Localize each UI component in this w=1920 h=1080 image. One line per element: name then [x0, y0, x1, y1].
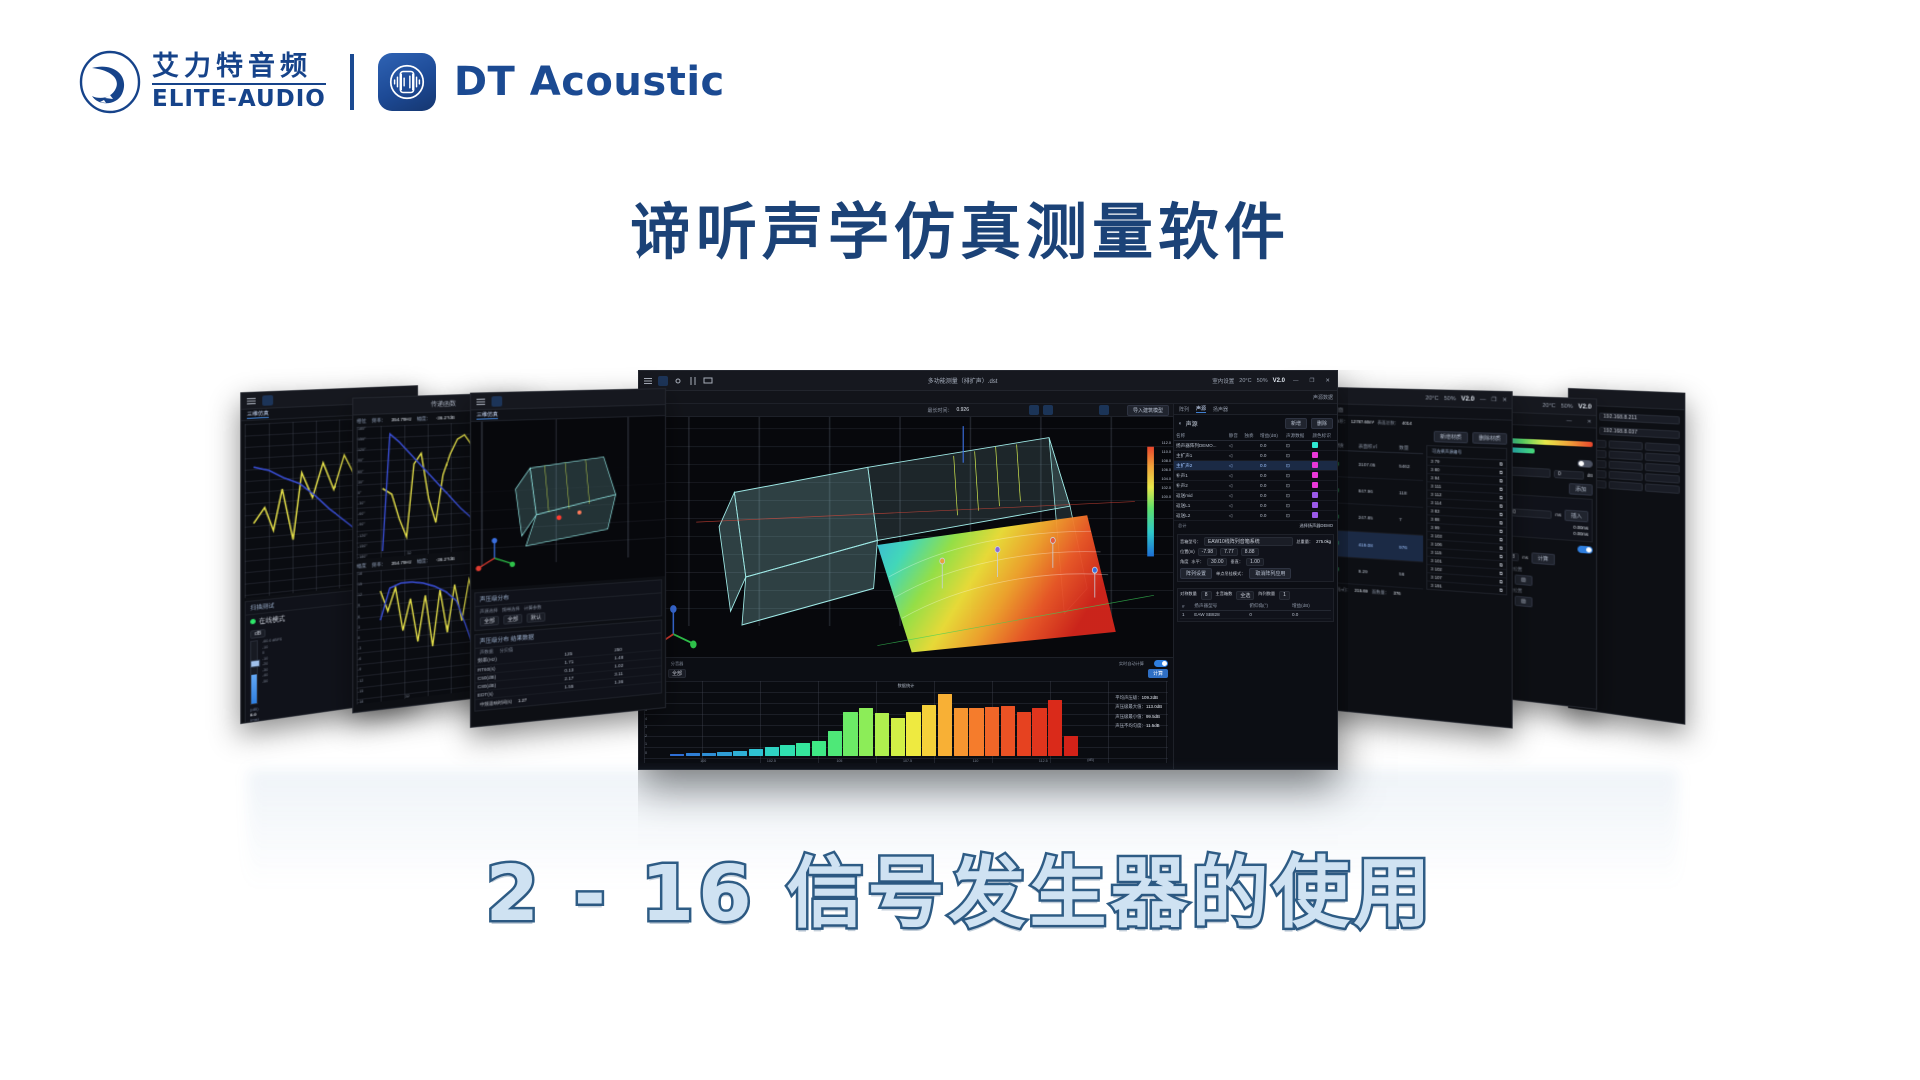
duration-label: 最长时间：	[927, 407, 952, 414]
tab-sim3d[interactable]: 三维仿真	[476, 411, 497, 420]
grid-cell[interactable]	[1609, 450, 1643, 460]
footer-count-value: 376	[1393, 590, 1400, 597]
level-meter[interactable]	[250, 640, 258, 705]
tab-array[interactable]: 阵列	[1179, 406, 1189, 413]
page-title: 谛听声学仿真测量软件	[0, 182, 1920, 271]
link-icon[interactable]: ⧉	[1500, 495, 1503, 500]
brand-rule	[152, 83, 326, 85]
sliders-icon[interactable]	[523, 395, 534, 406]
target-icon[interactable]	[279, 394, 290, 405]
monitor-icon[interactable]	[311, 393, 322, 404]
select-icon[interactable]	[973, 405, 983, 415]
tab-source[interactable]: 声源	[1311, 405, 1321, 412]
stat-label-1: 声压级最大值：	[1115, 704, 1146, 709]
target-icon[interactable]	[508, 395, 519, 406]
tab-speaker[interactable]: 扬声器	[1213, 406, 1228, 413]
titlebar-status: 室内设置 20°C 50% V2.0 — ❐ ✕	[1212, 377, 1333, 385]
results-panel: 声压级分布 结果数据 声数据 分贝值 频率(Hz)125250 RT60(s)1…	[474, 619, 662, 711]
phase-val-label: 幅度：	[417, 416, 431, 423]
volume-label: 体积：	[1335, 418, 1348, 424]
measure-icon[interactable]	[1071, 405, 1081, 415]
link-icon[interactable]: ⧉	[1500, 571, 1503, 576]
light-icon[interactable]	[1113, 405, 1123, 415]
count-value: 4014	[1402, 421, 1412, 427]
filter-band-label: 分音器	[671, 661, 684, 667]
sliders-icon[interactable]	[295, 393, 306, 404]
source-select-label: 声源选择	[480, 607, 498, 615]
model-select[interactable]: EAW10线阵列音箱系统	[1204, 537, 1293, 546]
phase-label: 相位	[357, 418, 367, 425]
col-solo: 独奏	[1242, 432, 1258, 441]
waveform-square-icon	[378, 53, 436, 111]
mid-rt-label: 中频混响时间(s)	[480, 699, 512, 708]
grid-cell[interactable]	[1609, 440, 1643, 450]
material-table[interactable]: 名称 材质 表面积㎡ 数量 声扩散...▦3107.055462 观众厅...▦…	[1293, 440, 1423, 589]
link-icon[interactable]: ⧉	[1500, 503, 1503, 508]
minimize-icon[interactable]: —	[1290, 378, 1302, 384]
minimize-icon[interactable]: —	[1566, 418, 1571, 424]
results-tab-0[interactable]: 声数据	[480, 648, 493, 655]
sim3d-viewport[interactable]	[471, 416, 665, 590]
version-label: V2.0	[1273, 378, 1285, 384]
array-settings-button[interactable]: 阵列设置	[1180, 568, 1212, 579]
calculate-button[interactable]: 计算	[1148, 669, 1168, 678]
rev-lock-icon[interactable]: ▨	[1515, 596, 1533, 608]
mag-freq: 354.79Hz	[391, 559, 411, 567]
scale-icon[interactable]	[1085, 405, 1095, 415]
arr-h0: 对称数量	[1180, 591, 1197, 600]
arr-col-0: #	[1180, 602, 1192, 611]
auto-calc-toggle[interactable]	[1154, 660, 1168, 667]
view-toolbar[interactable]: 最长时间： 0.926 导入建筑模型	[639, 404, 1173, 417]
link-icon[interactable]: ⧉	[1500, 562, 1503, 567]
brand-divider	[350, 54, 354, 110]
window-material[interactable]: 20°C 50% V2.0 — ❐ ✕ 表面 声源 接收面 表面积： 4467.…	[1288, 386, 1513, 729]
minimize-icon[interactable]: —	[1480, 396, 1486, 402]
elite-audio-logo: 艾力特音频 ELITE-AUDIO	[78, 50, 326, 114]
rotate-icon[interactable]	[987, 405, 997, 415]
model-label: 音箱型号：	[1180, 539, 1201, 545]
add-material-button[interactable]: 新增材质	[1434, 431, 1468, 444]
delay-calc-toggle[interactable]	[1577, 545, 1592, 553]
close-icon[interactable]: ✕	[1587, 418, 1592, 424]
histogram-xlabel: (dB)	[1087, 758, 1094, 762]
col-mute: 静音	[1227, 432, 1243, 441]
level-meter-knob[interactable]	[250, 659, 260, 667]
online-mode-label: 在线模式	[259, 613, 285, 625]
link-icon[interactable]: ⧉	[1500, 487, 1503, 492]
histogram-xaxis: 100102.5105107.5110112.5	[670, 759, 1078, 763]
elite-cn-text: 艾力特音频	[152, 53, 326, 81]
temperature-value: 20°C	[1426, 395, 1439, 402]
tab-sim3d[interactable]: 三维仿真	[247, 410, 269, 419]
source-id-list[interactable]: 可选择声源编号 3 79⧉ 3 80⧉ 3 94⧉ 3 111⧉ 3 112⧉ …	[1427, 445, 1508, 595]
version-label: V2.0	[1578, 404, 1591, 411]
secondary-toolbar[interactable]: 房间选择 声源数据	[639, 391, 1337, 404]
stat-value-1: 113.0dB	[1146, 704, 1162, 709]
box-icon[interactable]	[1029, 405, 1039, 415]
online-status-dot	[250, 619, 255, 625]
elite-en-text: ELITE-AUDIO	[152, 87, 326, 111]
mag-label: 幅度	[357, 563, 367, 570]
delay-unit: ms	[1522, 555, 1528, 561]
lesson-title: 2 - 16 信号发生器的使用	[0, 832, 1920, 943]
grid-cell[interactable]	[1645, 473, 1680, 484]
grid-cell[interactable]	[1645, 442, 1680, 452]
pos-z[interactable]: 8.88	[1241, 548, 1259, 556]
point-icon[interactable]	[1099, 405, 1109, 415]
add-exec-button[interactable]: 添加	[1569, 483, 1593, 496]
arr-col-2: 俯仰角(°)	[1247, 602, 1290, 611]
band-select-label: 频带选择	[502, 606, 520, 614]
area-value: 4467.04㎡	[1313, 418, 1332, 425]
brand-header: 艾力特音频 ELITE-AUDIO D	[78, 50, 725, 114]
tab-source[interactable]: 声源	[1196, 405, 1206, 413]
window-main[interactable]: 多功能测量（排扩声）.dst 室内设置 20°C 50% V2.0 — ❐ ✕ …	[638, 370, 1338, 770]
position-label: 位置(m)	[1180, 549, 1195, 555]
grid-cell[interactable]	[1609, 461, 1643, 471]
elite-audio-swirl-icon	[78, 50, 142, 114]
stat-label-3: 声压不均匀度：	[1115, 723, 1146, 728]
link-icon[interactable]: ⧉	[1500, 529, 1503, 534]
v-value[interactable]: 1.00	[1246, 558, 1264, 566]
hamburger-icon[interactable]	[643, 376, 653, 386]
select-source-icon: ⌖	[1293, 428, 1296, 435]
monitor-icon[interactable]	[539, 394, 549, 405]
link-icon[interactable]: ⧉	[1500, 520, 1503, 525]
stat-label-0: 平均声压级：	[1115, 695, 1141, 700]
phase-val: -36.27dB	[436, 415, 455, 422]
screenshot-stage: 三维仿真 扫描测试 在线模式 dB -60.0 dBFS -100	[248, 382, 1678, 782]
pos-y[interactable]: 7.77	[1220, 548, 1238, 556]
gear-icon[interactable]	[673, 376, 683, 386]
ip-row-1[interactable]: 192.168.8.037	[1599, 426, 1680, 438]
grid-cell[interactable]	[1645, 453, 1680, 463]
grid-cell[interactable]	[1609, 471, 1643, 481]
footer-select-label: 只选择声源编号	[1293, 583, 1322, 591]
ip-row-0[interactable]: 192.168.8.211	[1599, 412, 1680, 424]
main-3d-viewport[interactable]: 112.0110.0108.0106.0104.0102.0100.0	[639, 417, 1173, 657]
titlebar: 多功能测量（排扩声）.dst 室内设置 20°C 50% V2.0 — ❐ ✕	[639, 371, 1337, 391]
mag-val: -36.27dB	[436, 556, 455, 564]
fwd-lock-icon[interactable]: ▨	[1515, 574, 1533, 586]
link-icon[interactable]: ⧉	[1500, 478, 1503, 483]
calc-param-select[interactable]: 默认	[527, 612, 546, 623]
link-icon[interactable]: ⧉	[1500, 554, 1503, 559]
window-sim3d[interactable]: 三维仿真	[470, 388, 666, 728]
grid-icon[interactable]	[1057, 405, 1067, 415]
import-model-button[interactable]: 导入建筑模型	[1127, 405, 1169, 416]
room-setting-label[interactable]: 室内设置	[1212, 377, 1234, 385]
count-label: 表面总数：	[1377, 420, 1399, 427]
grid-cell[interactable]	[1645, 463, 1680, 473]
speaker-icon: ◖	[1178, 421, 1182, 427]
interval-unit: ms	[1555, 512, 1561, 518]
phase-freq-label: 频率：	[372, 417, 386, 424]
filter-band-select[interactable]: 全部	[668, 669, 686, 678]
dt-acoustic-logo: DT Acoustic	[378, 53, 725, 111]
statistics-panel: 声源选择 分音器 实时自动计算 全部 全部 计算 数据统计	[639, 657, 1173, 769]
results-tab-1[interactable]: 分贝值	[500, 647, 513, 654]
stat-value-0: 109.2dB	[1142, 695, 1158, 700]
dt-acoustic-name: DT Acoustic	[454, 59, 725, 105]
mag-freq-label: 频率：	[372, 561, 386, 568]
h-label: 水平：	[1191, 559, 1204, 565]
maximize-icon[interactable]: ❐	[1491, 396, 1496, 402]
version-label: V2.0	[1461, 396, 1474, 403]
mag-val-label: 幅度：	[417, 558, 431, 565]
delete-material-button[interactable]: 删除材质	[1472, 432, 1507, 445]
maximize-icon[interactable]: ❐	[1306, 378, 1317, 384]
plane-icon[interactable]	[1043, 405, 1053, 415]
colorbar-labels: 112.0110.0108.0106.0104.0102.0100.0	[1161, 439, 1171, 501]
arr-h3: 阵列数量	[1258, 591, 1275, 600]
phase-freq: 354.79Hz	[391, 416, 411, 423]
link-icon[interactable]: ⧉	[1500, 537, 1503, 542]
hang-mode-label: 单点吊挂模式：	[1216, 571, 1245, 577]
grid-cell[interactable]	[1645, 483, 1680, 494]
delay-calc-button[interactable]: 计算	[1531, 552, 1554, 565]
mid-rt-value: 1.27	[518, 697, 527, 704]
select-source-label[interactable]: 选择声源	[1300, 429, 1318, 436]
total-label: 总计	[1178, 523, 1186, 529]
v-label: 垂直：	[1230, 559, 1243, 565]
h-value[interactable]: 30.00	[1207, 558, 1228, 566]
show-selected-toggle[interactable]	[1577, 460, 1592, 468]
offset-unit: dB	[1587, 473, 1593, 478]
footer-count-label: 面数量：	[1372, 589, 1389, 596]
offset-value[interactable]: 0	[1554, 469, 1584, 479]
area-label: 表面积：	[1293, 417, 1310, 424]
link-icon[interactable]: ⧉	[1500, 461, 1503, 466]
link-icon[interactable]: ⧉	[1500, 545, 1503, 550]
source-select[interactable]: 全部	[480, 616, 499, 627]
layers-icon[interactable]	[492, 396, 503, 407]
duration-value: 0.926	[956, 407, 969, 413]
humidity-value: 50%	[1561, 403, 1573, 410]
angle-label: 角度	[1180, 559, 1188, 565]
humidity-value: 50%	[1257, 378, 1268, 384]
hamburger-icon[interactable]	[246, 395, 257, 406]
close-icon[interactable]: ✕	[1322, 378, 1333, 384]
arr-v1[interactable]: 全选	[1236, 591, 1254, 600]
arr-col-1: 扬声器型号	[1192, 602, 1247, 611]
mag-yaxis: 181512963 0-3-6-9-12-15-18	[358, 571, 364, 704]
tab-receiver[interactable]: 接收面	[1328, 406, 1343, 414]
footer-area-value: 215.69	[1355, 588, 1368, 595]
gain-chip[interactable]: dB	[250, 629, 265, 639]
volume-value: 12787.60m³	[1351, 419, 1374, 426]
histogram-bars	[670, 689, 1078, 756]
tab-surface[interactable]: 表面	[1294, 404, 1304, 412]
link-icon[interactable]: ⧉	[1500, 587, 1503, 592]
arr-h1: 主音箱数	[1216, 591, 1233, 600]
close-icon[interactable]: ✕	[1502, 397, 1507, 403]
layers-icon[interactable]	[262, 395, 273, 406]
insert-button[interactable]: 插入	[1565, 510, 1589, 523]
monitor-icon[interactable]	[703, 376, 713, 386]
sliders-icon[interactable]	[688, 376, 698, 386]
histogram-stats: 平均声压级：109.2dB 声压级最大值：113.0dB 声压级最小值：99.5…	[1115, 693, 1162, 730]
link-icon[interactable]: ⧉	[1500, 579, 1503, 584]
delay-value: 0.00ms	[1573, 531, 1588, 538]
stat-value-2: 99.5dB	[1146, 714, 1160, 719]
auto-calc-label: 实时自动计算	[1119, 661, 1144, 667]
calc-param-label: 计算参数	[524, 604, 542, 612]
footer-area-label: 表面积(㎡)：	[1326, 586, 1350, 594]
elite-audio-wordmark: 艾力特音频 ELITE-AUDIO	[152, 53, 326, 111]
histogram-chart: 数据统计 76543210 (%)	[644, 681, 1168, 763]
link-icon[interactable]: ⧉	[1500, 512, 1503, 517]
grid-cell[interactable]	[1609, 481, 1643, 492]
file-title: 多功能测量（排扩声）.dst	[718, 376, 1207, 385]
zoom-icon[interactable]	[1015, 405, 1025, 415]
cancel-array-button[interactable]: 取消阵列应用	[1249, 568, 1291, 579]
band-select[interactable]: 全部	[503, 614, 522, 625]
source-section-title: 声源	[1186, 419, 1198, 428]
pan-icon[interactable]	[1001, 405, 1011, 415]
arr-v0[interactable]: 8	[1201, 591, 1212, 600]
temperature-value: 20°C	[1239, 378, 1251, 384]
col-gain: 增益(dB)	[1258, 432, 1284, 441]
col-name: 名称	[1174, 432, 1227, 441]
pos-x[interactable]: -7.98	[1198, 548, 1217, 556]
phase-yaxis: 180°150°120°90°60°30° 0°-30°-60°-90°-120…	[358, 427, 367, 560]
grid-icon[interactable]	[658, 376, 668, 386]
hamburger-icon[interactable]	[475, 396, 486, 407]
stat-value-3: 11.5dB	[1146, 723, 1160, 728]
humidity-value: 50%	[1444, 395, 1456, 402]
stat-label-2: 声压级最小值：	[1115, 714, 1146, 719]
temperature-value: 20°C	[1542, 402, 1555, 409]
link-icon[interactable]: ⧉	[1500, 470, 1503, 475]
